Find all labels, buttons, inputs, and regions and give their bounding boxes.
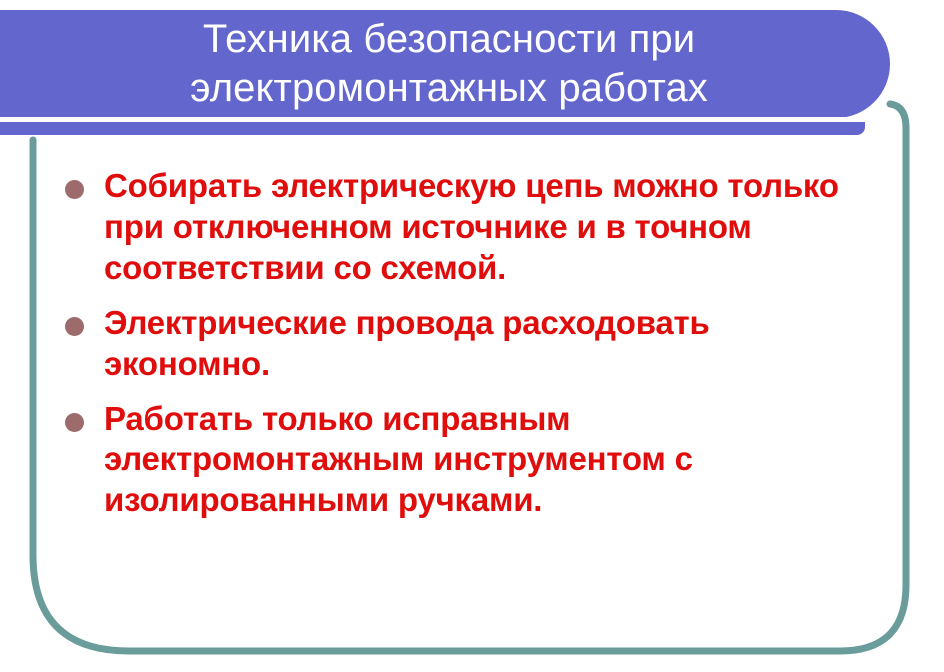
bullet-item: Работать только исправным электромонтажн… (62, 399, 872, 522)
slide-title-banner: Техника безопасности при электромонтажны… (0, 10, 890, 118)
bullet-item-text: Собирать электрическую цепь можно только… (104, 166, 872, 289)
bullet-item: Собирать электрическую цепь можно только… (62, 166, 872, 289)
bullet-dot-icon (65, 180, 84, 199)
slide-body: Собирать электрическую цепь можно только… (62, 166, 872, 521)
bullet-dot-icon (65, 317, 84, 336)
slide-title: Техника безопасности при электромонтажны… (54, 15, 844, 113)
bullet-item-text: Электрические провода расходовать эконом… (104, 303, 872, 385)
title-accent-band (0, 122, 865, 135)
presentation-slide: Техника безопасности при электромонтажны… (0, 0, 944, 672)
bullet-item-text: Работать только исправным электромонтажн… (104, 399, 872, 522)
bullet-dot-icon (65, 413, 84, 432)
bullet-item: Электрические провода расходовать эконом… (62, 303, 872, 385)
